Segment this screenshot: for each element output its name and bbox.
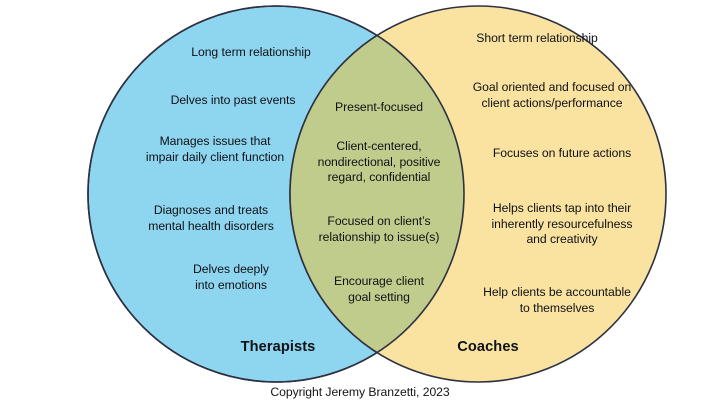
venn-diagram: Long term relationship Delves into past …	[0, 0, 720, 405]
overlap-item-4: Encourage client goal setting	[311, 274, 447, 305]
copyright-notice: Copyright Jeremy Branzetti, 2023	[210, 385, 510, 401]
right-item-3: Focuses on future actions	[437, 146, 687, 162]
right-item-4: Helps clients tap into their inherently …	[437, 201, 687, 248]
right-item-5: Help clients be accountable to themselve…	[432, 285, 682, 316]
right-circle-label: Coaches	[398, 340, 578, 356]
left-circle-label: Therapists	[188, 340, 368, 356]
overlap-item-3: Focused on client’s relationship to issu…	[307, 214, 451, 245]
left-item-4: Diagnoses and treats mental health disor…	[86, 203, 336, 234]
overlap-item-2: Client-centered, nondirectional, positiv…	[305, 139, 453, 186]
right-item-1: Short term relationship	[412, 31, 662, 47]
left-item-3: Manages issues that impair daily client …	[90, 134, 340, 165]
right-item-2: Goal oriented and focused on client acti…	[427, 80, 677, 111]
left-item-1: Long term relationship	[126, 45, 376, 61]
